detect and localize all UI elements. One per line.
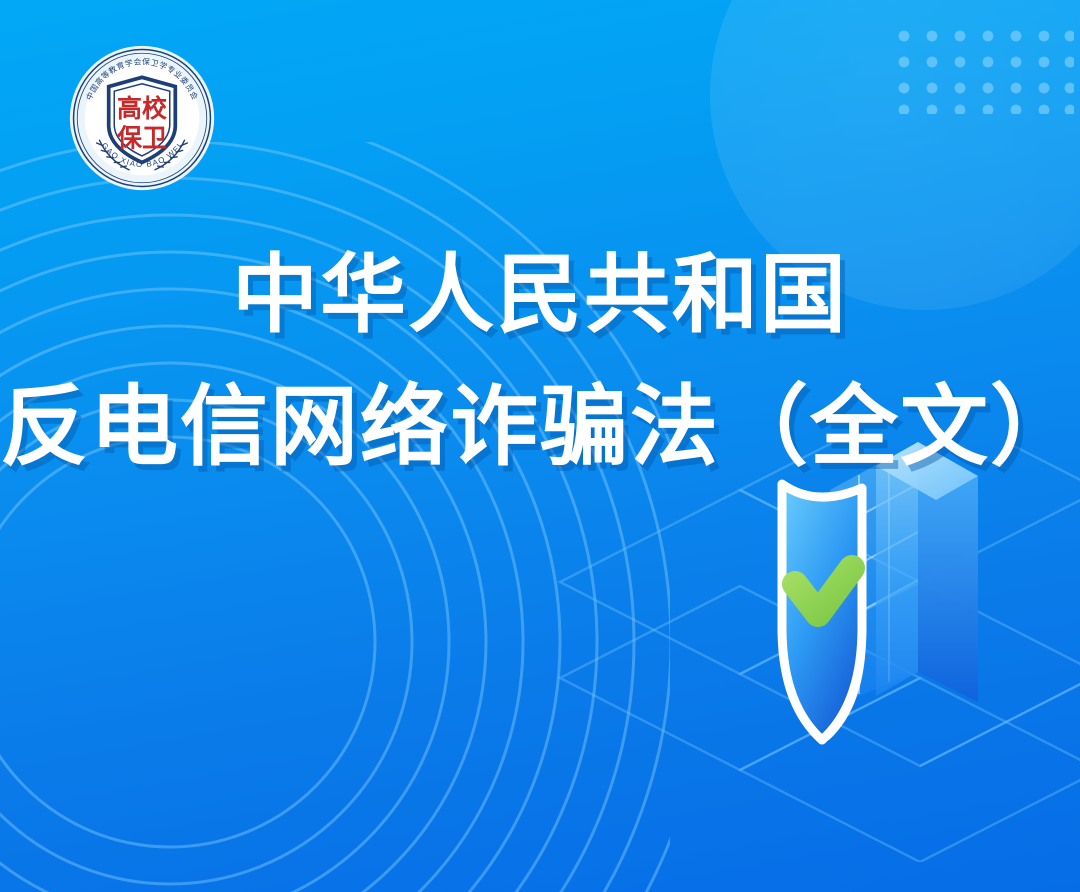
title-line-1: 中华人民共和国 — [0, 228, 1080, 362]
poster-title: 中华人民共和国 反电信网络诈骗法（全文） — [0, 228, 1080, 496]
shield-icon — [782, 484, 866, 740]
gaoxiaobaowei-logo: 中国高等教育学会保卫学专业委员会 GAO XIAO BAO WEI 高校 保卫 — [68, 44, 216, 192]
poster-canvas: 中国高等教育学会保卫学专业委员会 GAO XIAO BAO WEI 高校 保卫 — [0, 0, 1080, 892]
dot-grid-decoration — [898, 30, 1074, 114]
logo-shield-text-top: 高校 — [117, 94, 167, 123]
logo-shield-text-bottom: 保卫 — [116, 124, 167, 153]
title-line-2: 反电信网络诈骗法（全文） — [0, 362, 1080, 496]
